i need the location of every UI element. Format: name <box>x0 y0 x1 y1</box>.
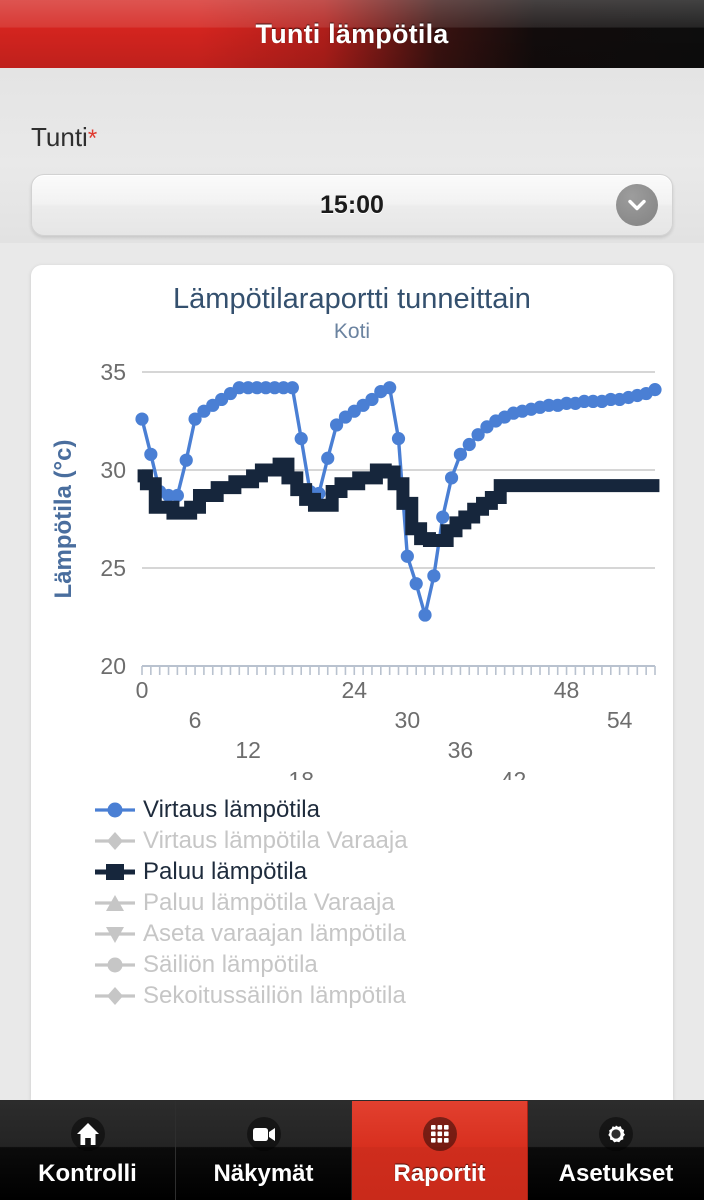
square-icon <box>93 859 137 885</box>
legend-item[interactable]: Paluu lämpötila Varaaja <box>93 888 653 918</box>
x-axis-tick-label: 24 <box>341 677 367 703</box>
video-camera-icon <box>241 1111 287 1157</box>
hour-select-value: 15:00 <box>320 191 384 220</box>
x-axis-tick-label: 36 <box>448 737 474 763</box>
circle-icon <box>93 797 137 823</box>
tab-raportit[interactable]: Raportit <box>352 1101 528 1200</box>
data-point <box>135 412 148 425</box>
legend-item[interactable]: Virtaus lämpötila Varaaja <box>93 826 653 856</box>
hour-field-label-text: Tunti <box>31 122 88 152</box>
home-icon <box>65 1111 111 1157</box>
legend-item[interactable]: Aseta varaajan lämpötila <box>93 919 653 949</box>
chart-card: Lämpötilaraportti tunneittain Koti 20253… <box>31 265 673 1100</box>
series-return-temp <box>138 464 660 540</box>
y-axis-tick-label: 25 <box>100 555 126 581</box>
legend-item[interactable]: Sekoitussäiliön lämpötila <box>93 981 653 1011</box>
diamond-icon <box>93 983 137 1009</box>
legend-item[interactable]: Paluu lämpötila <box>93 857 653 887</box>
data-point <box>436 510 449 523</box>
legend-item-label: Paluu lämpötila Varaaja <box>143 889 395 917</box>
chevron-down-icon[interactable] <box>616 184 658 226</box>
title-bar: Tunti lämpötila <box>0 0 704 68</box>
legend-item-label: Aseta varaajan lämpötila <box>143 920 406 948</box>
chart-title: Lämpötilaraportti tunneittain <box>31 283 673 316</box>
x-axis-tick-label: 6 <box>189 707 202 733</box>
legend-item-label: Virtaus lämpötila <box>143 796 320 824</box>
data-point <box>392 432 405 445</box>
data-point <box>295 432 308 445</box>
tab-label: Näkymät <box>213 1160 313 1188</box>
tab-label: Asetukset <box>559 1160 674 1188</box>
tab-näkymät[interactable]: Näkymät <box>176 1101 352 1200</box>
bottom-tab-bar: KontrolliNäkymätRaportitAsetukset <box>0 1100 704 1200</box>
x-axis-tick-label: 42 <box>501 767 527 780</box>
required-asterisk: * <box>88 125 97 152</box>
data-point <box>418 608 431 621</box>
circle-icon <box>93 952 137 978</box>
step-line <box>138 464 660 540</box>
data-point <box>321 452 334 465</box>
data-point <box>445 471 458 484</box>
y-axis-title: Lämpötila (°c) <box>50 440 77 599</box>
x-axis-tick-label: 12 <box>235 737 261 763</box>
data-point <box>171 489 184 502</box>
data-point <box>454 448 467 461</box>
triangle-up-icon <box>93 890 137 916</box>
chart-subtitle: Koti <box>31 320 673 344</box>
x-axis-tick-label: 18 <box>288 767 314 780</box>
legend-item[interactable]: Säiliön lämpötila <box>93 950 653 980</box>
form-area: Tunti* 15:00 <box>0 68 704 243</box>
y-axis-tick-label: 35 <box>100 359 126 385</box>
chart-legend: Virtaus lämpötilaVirtaus lämpötila Varaa… <box>93 795 653 1012</box>
data-point <box>648 383 661 396</box>
data-point <box>144 448 157 461</box>
data-point <box>401 550 414 563</box>
data-point <box>286 381 299 394</box>
legend-item-label: Sekoitussäiliön lämpötila <box>143 982 406 1010</box>
data-point <box>463 438 476 451</box>
data-point <box>180 454 193 467</box>
hour-field-label: Tunti* <box>31 122 97 153</box>
tab-label: Kontrolli <box>38 1160 137 1188</box>
legend-item[interactable]: Virtaus lämpötila <box>93 795 653 825</box>
data-point <box>427 569 440 582</box>
x-axis-tick-label: 48 <box>554 677 580 703</box>
data-point <box>410 577 423 590</box>
triangle-down-icon <box>93 921 137 947</box>
gear-icon <box>593 1111 639 1157</box>
legend-item-label: Virtaus lämpötila Varaaja <box>143 827 408 855</box>
y-axis-tick-label: 20 <box>100 653 126 679</box>
app-root: Tunti lämpötila Tunti* 15:00 Lämpötilara… <box>0 0 704 1200</box>
x-axis-tick-label: 30 <box>395 707 421 733</box>
legend-item-label: Paluu lämpötila <box>143 858 307 886</box>
tab-label: Raportit <box>394 1160 486 1188</box>
x-axis-tick-label: 54 <box>607 707 633 733</box>
hour-select[interactable]: 15:00 <box>31 174 673 236</box>
y-axis-tick-label: 30 <box>100 457 126 483</box>
tab-asetukset[interactable]: Asetukset <box>528 1101 704 1200</box>
x-axis-tick-label: 0 <box>136 677 149 703</box>
tab-kontrolli[interactable]: Kontrolli <box>0 1101 176 1200</box>
diamond-icon <box>93 828 137 854</box>
page-title: Tunti lämpötila <box>256 19 449 50</box>
temperature-chart: 20253035Lämpötila (°c)061218243036424854 <box>31 350 673 780</box>
legend-item-label: Säiliön lämpötila <box>143 951 318 979</box>
data-point <box>383 381 396 394</box>
grid-apps-icon <box>417 1111 463 1157</box>
